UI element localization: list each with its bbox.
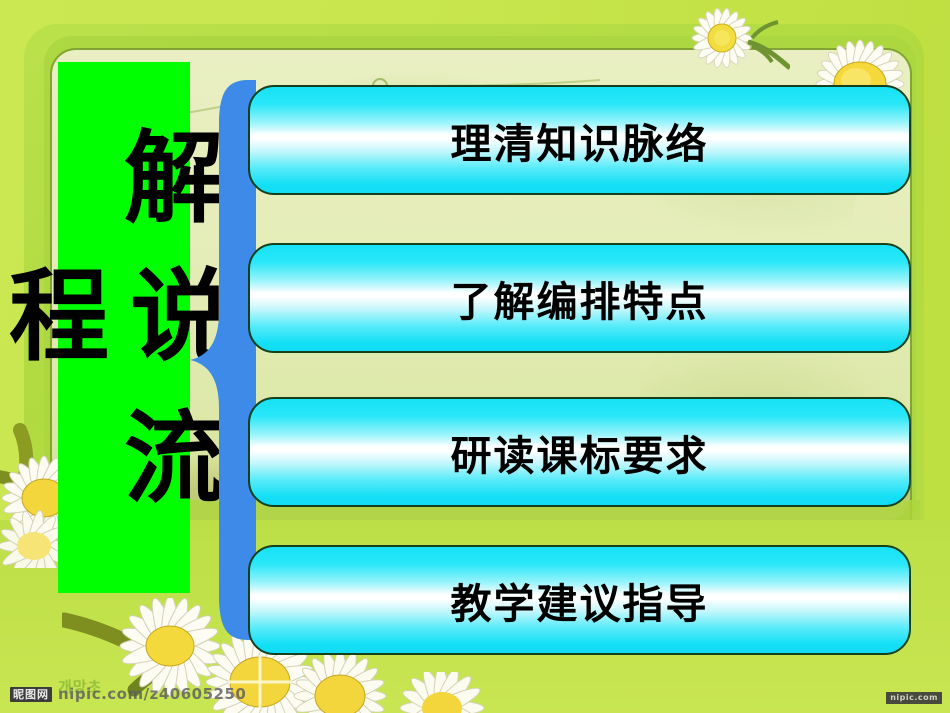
process-step-box-3[interactable]: 研读课标要求 [248,397,911,507]
process-step-box-1[interactable]: 理清知识脉络 [248,85,911,195]
title-char-2: 程 [9,268,109,368]
presentation-slide: 解 程 说 流 理清知识脉络 了解编排特点 研读课标要求 教学建议指导 개망초 … [0,0,950,713]
watermark-url: nipic.com/z40605250 [58,687,246,702]
process-step-label: 理清知识脉络 [451,110,709,170]
process-step-box-2[interactable]: 了解编排特点 [248,243,911,353]
process-step-list: 理清知识脉络 了解编排特点 研读课标要求 教学建议指导 [248,0,916,713]
watermark-bottom-left: 昵图网 nipic.com/z40605250 [10,676,246,702]
process-step-label: 研读课标要求 [451,422,709,482]
process-step-label: 教学建议指导 [451,570,709,630]
process-step-label: 了解编排特点 [451,268,709,328]
process-step-box-4[interactable]: 教学建议指导 [248,545,911,655]
watermark-badge: 昵图网 [10,687,52,702]
curly-brace-icon [186,80,256,640]
watermark-corner: nipic.com [886,692,942,704]
